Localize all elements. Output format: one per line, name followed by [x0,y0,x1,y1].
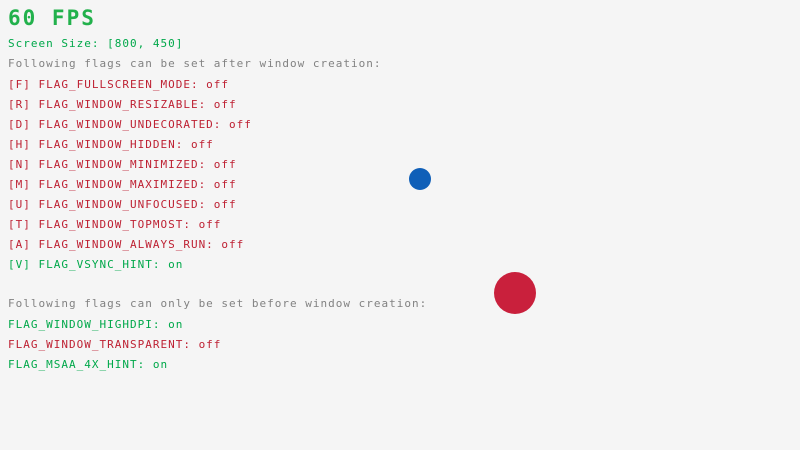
raylib-window: 60 FPS Screen Size: [800, 450] Following… [0,0,800,450]
flag-row[interactable]: [M] FLAG_WINDOW_MAXIMIZED: off [8,178,237,192]
ball-blue-circle [409,168,431,190]
flag-row[interactable]: [F] FLAG_FULLSCREEN_MODE: off [8,78,229,92]
flag-row[interactable]: [T] FLAG_WINDOW_TOPMOST: off [8,218,221,232]
fps-counter: 60 FPS [8,6,96,30]
flag-row[interactable]: FLAG_WINDOW_HIGHDPI: on [8,318,183,332]
flag-row[interactable]: [N] FLAG_WINDOW_MINIMIZED: off [8,158,237,172]
flag-row[interactable]: [H] FLAG_WINDOW_HIDDEN: off [8,138,214,152]
section-header-before-creation: Following flags can only be set before w… [8,297,427,311]
flag-row[interactable]: [R] FLAG_WINDOW_RESIZABLE: off [8,98,237,112]
section-header-after-creation: Following flags can be set after window … [8,57,382,71]
flag-row[interactable]: [A] FLAG_WINDOW_ALWAYS_RUN: off [8,238,244,252]
flag-row[interactable]: FLAG_MSAA_4X_HINT: on [8,358,168,372]
flag-row[interactable]: FLAG_WINDOW_TRANSPARENT: off [8,338,221,352]
flag-row[interactable]: [V] FLAG_VSYNC_HINT: on [8,258,183,272]
ball-red-circle [494,272,536,314]
screen-size-label: Screen Size: [800, 450] [8,37,183,51]
flag-row[interactable]: [D] FLAG_WINDOW_UNDECORATED: off [8,118,252,132]
flag-row[interactable]: [U] FLAG_WINDOW_UNFOCUSED: off [8,198,237,212]
